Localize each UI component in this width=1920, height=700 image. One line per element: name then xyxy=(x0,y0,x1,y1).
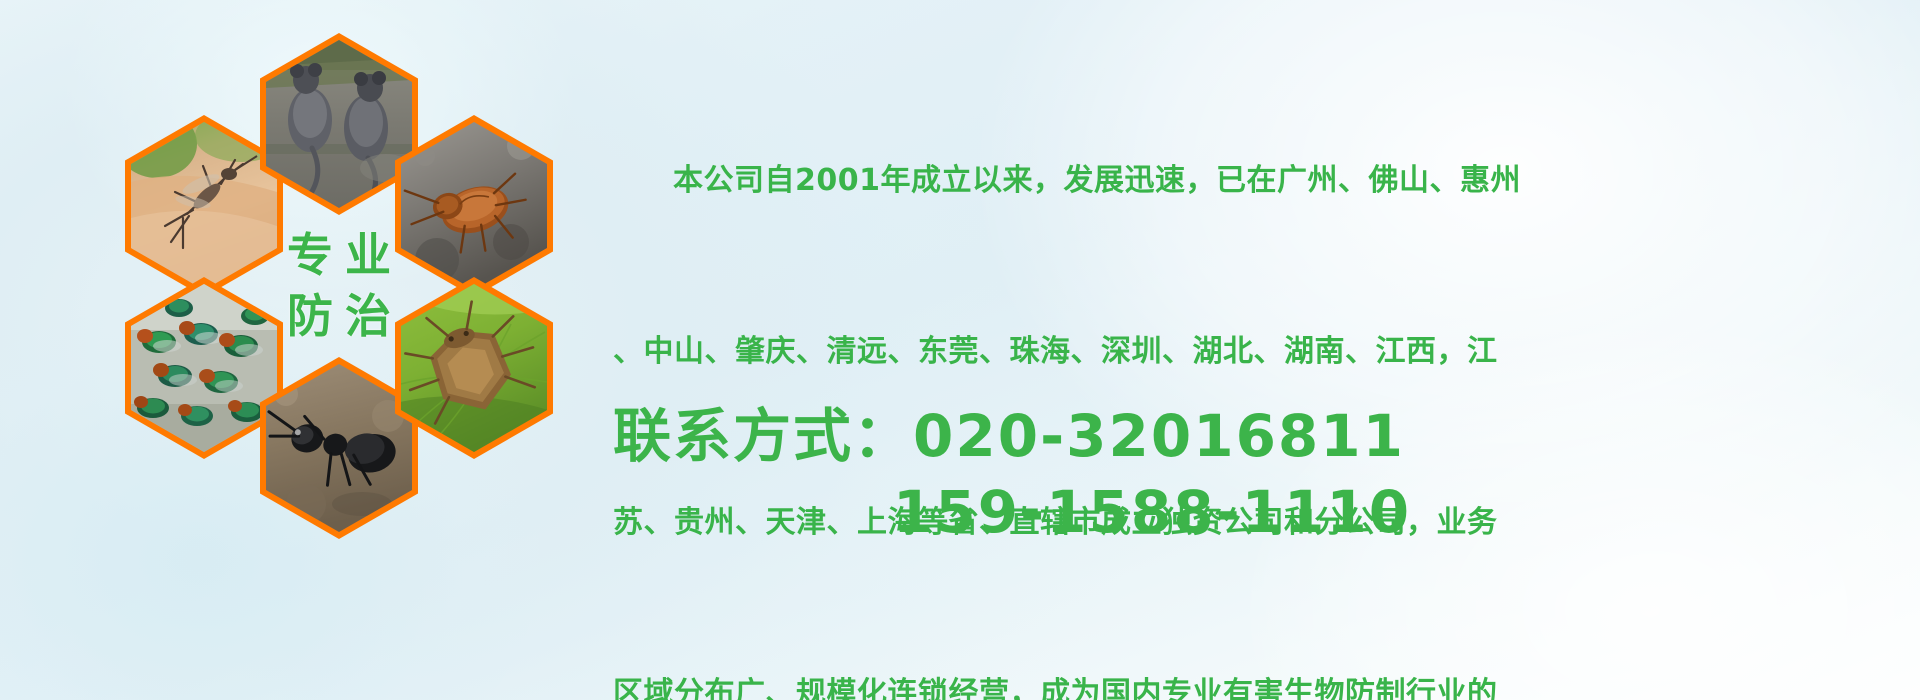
company-banner: 专业 防治 本公司自2001年成立以来，发展迅速，已在广州、佛山、惠州 、中山、… xyxy=(0,0,1920,700)
flies-photo xyxy=(131,284,277,452)
hex-photo-mosquito xyxy=(125,115,283,297)
contact-info-block: 联系方式：020-32016811 159-1588-1110 xyxy=(613,398,1913,550)
company-intro-paragraph: 本公司自2001年成立以来，发展迅速，已在广州、佛山、惠州 、中山、肇庆、清远、… xyxy=(613,38,1913,700)
hex-photo-stink-bug xyxy=(395,277,553,459)
intro-line: 、中山、肇庆、清远、东莞、珠海、深圳、湖北、湖南、江西，江 xyxy=(613,323,1913,380)
hex-photo-rat xyxy=(260,33,418,215)
rat-photo xyxy=(266,40,412,208)
contact-phone-secondary[interactable]: 159-1588-1110 xyxy=(613,474,1913,550)
contact-phone-primary[interactable]: 联系方式：020-32016811 xyxy=(613,398,1913,474)
ant-photo xyxy=(266,364,412,532)
mosquito-photo xyxy=(131,122,277,290)
intro-line: 区域分布广、规模化连锁经营，成为国内专业有害生物防制行业的 xyxy=(613,665,1913,700)
intro-copy-block: 本公司自2001年成立以来，发展迅速，已在广州、佛山、惠州 、中山、肇庆、清远、… xyxy=(613,38,1913,700)
slogan-line-1: 专业 xyxy=(275,229,403,282)
stink-bug-photo xyxy=(401,284,547,452)
hex-photo-flies xyxy=(125,277,283,459)
hex-center-slogan: 专业 防治 xyxy=(260,195,418,377)
slogan-line-2: 防治 xyxy=(275,290,403,343)
hex-photo-cockroach xyxy=(395,115,553,297)
intro-line: 本公司自2001年成立以来，发展迅速，已在广州、佛山、惠州 xyxy=(613,152,1913,209)
pest-hexagon-collage: 专业 防治 xyxy=(95,5,595,565)
hex-photo-ant xyxy=(260,357,418,539)
cockroach-photo xyxy=(401,122,547,290)
